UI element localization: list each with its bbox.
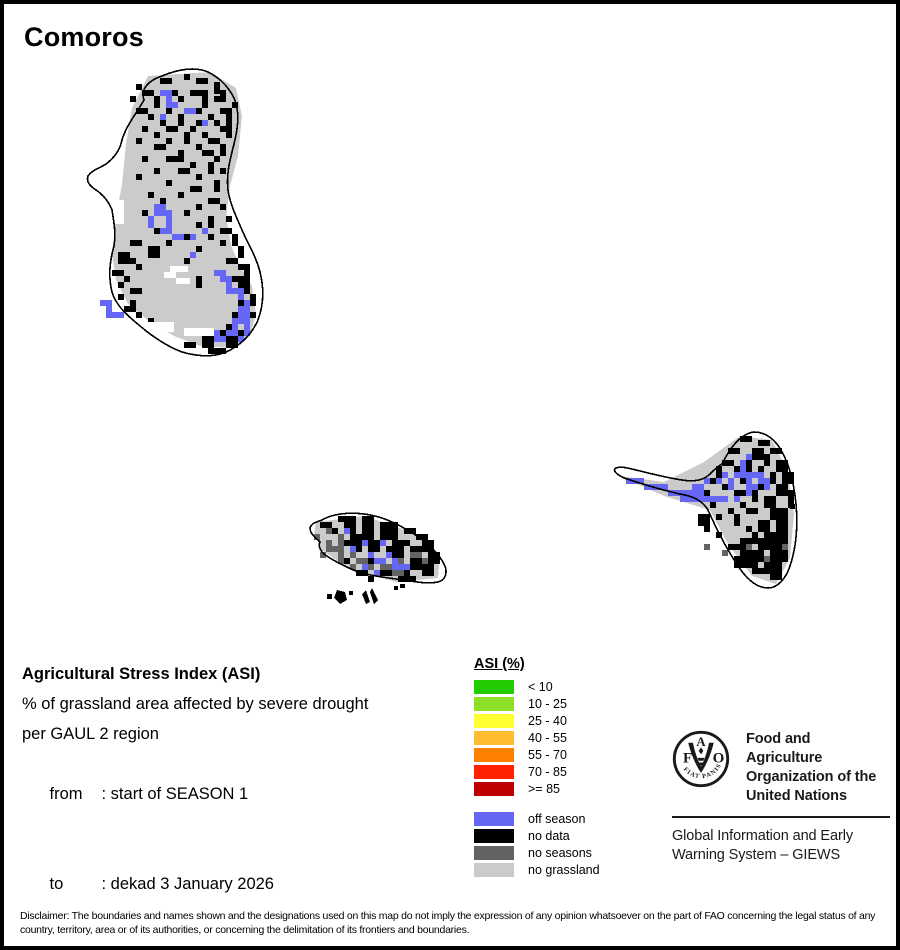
page-title: Comoros xyxy=(24,22,144,53)
legend-label: 10 - 25 xyxy=(528,697,567,711)
legend-swatch xyxy=(474,748,514,762)
islets-moheli xyxy=(327,584,405,604)
legend-swatch xyxy=(474,680,514,694)
raster-cells-anjouan xyxy=(620,436,794,584)
info-from-key: from xyxy=(50,779,102,809)
svg-text:F: F xyxy=(683,750,692,766)
legend-label: no data xyxy=(528,829,570,843)
info-to-value: : dekad 3 January 2026 xyxy=(102,875,274,893)
legend-label: off season xyxy=(528,812,585,826)
legend-label: 70 - 85 xyxy=(528,765,567,779)
legend-label: 40 - 55 xyxy=(528,731,567,745)
fao-divider xyxy=(672,816,890,818)
info-from-value: : start of SEASON 1 xyxy=(102,785,249,803)
legend-swatch xyxy=(474,731,514,745)
legend-swatch xyxy=(474,863,514,877)
legend-label: no grassland xyxy=(528,863,600,877)
fao-logo-block: F A O FIAT PANIS Food and Agriculture Or… xyxy=(672,730,890,865)
legend-row: 10 - 25 xyxy=(474,695,654,712)
legend-row: no seasons xyxy=(474,844,654,861)
legend-title: ASI (%) xyxy=(474,656,525,672)
legend-row: no data xyxy=(474,827,654,844)
legend-row: 70 - 85 xyxy=(474,763,654,780)
svg-text:A: A xyxy=(696,735,706,749)
info-region: per GAUL 2 region xyxy=(22,719,452,749)
info-from: from: start of SEASON 1 xyxy=(22,749,452,839)
island-moheli xyxy=(310,513,446,604)
legend-swatch xyxy=(474,829,514,843)
island-anjouan xyxy=(614,432,796,588)
info-block: Agricultural Stress Index (ASI) % of gra… xyxy=(22,659,452,950)
legend-swatch xyxy=(474,714,514,728)
info-heading: Agricultural Stress Index (ASI) xyxy=(22,659,452,689)
disclaimer-text: Disclaimer: The boundaries and names sho… xyxy=(20,909,882,937)
legend-swatch xyxy=(474,765,514,779)
legend-row: 25 - 40 xyxy=(474,712,654,729)
legend: ASI (%) < 10 10 - 25 25 - 40 40 - 55 55 … xyxy=(474,655,654,878)
legend-row: no grassland xyxy=(474,861,654,878)
legend-row: >= 85 xyxy=(474,780,654,797)
legend-label: no seasons xyxy=(528,846,592,860)
legend-label: 25 - 40 xyxy=(528,714,567,728)
legend-label: >= 85 xyxy=(528,782,560,796)
info-subtitle: % of grassland area affected by severe d… xyxy=(22,689,452,719)
fao-organization-name: Food and Agriculture Organization of the… xyxy=(746,730,890,806)
info-to-key: to xyxy=(50,869,102,899)
fao-emblem-icon: F A O FIAT PANIS xyxy=(672,730,734,793)
legend-swatch xyxy=(474,697,514,711)
legend-label: < 10 xyxy=(528,680,553,694)
map-poster: Comoros Agricultural Stress Index (ASI) … xyxy=(0,0,900,950)
legend-row: < 10 xyxy=(474,678,654,695)
raster-cells-moheli xyxy=(314,516,440,582)
legend-row: 55 - 70 xyxy=(474,746,654,763)
island-grande-comore xyxy=(87,69,262,356)
fao-system-name: Global Information and Early Warning Sys… xyxy=(672,827,890,865)
legend-row: off season xyxy=(474,810,654,827)
legend-row: 40 - 55 xyxy=(474,729,654,746)
legend-swatch xyxy=(474,846,514,860)
legend-label: 55 - 70 xyxy=(528,748,567,762)
legend-swatch xyxy=(474,782,514,796)
legend-swatch xyxy=(474,812,514,826)
legend-spacer xyxy=(474,797,654,810)
